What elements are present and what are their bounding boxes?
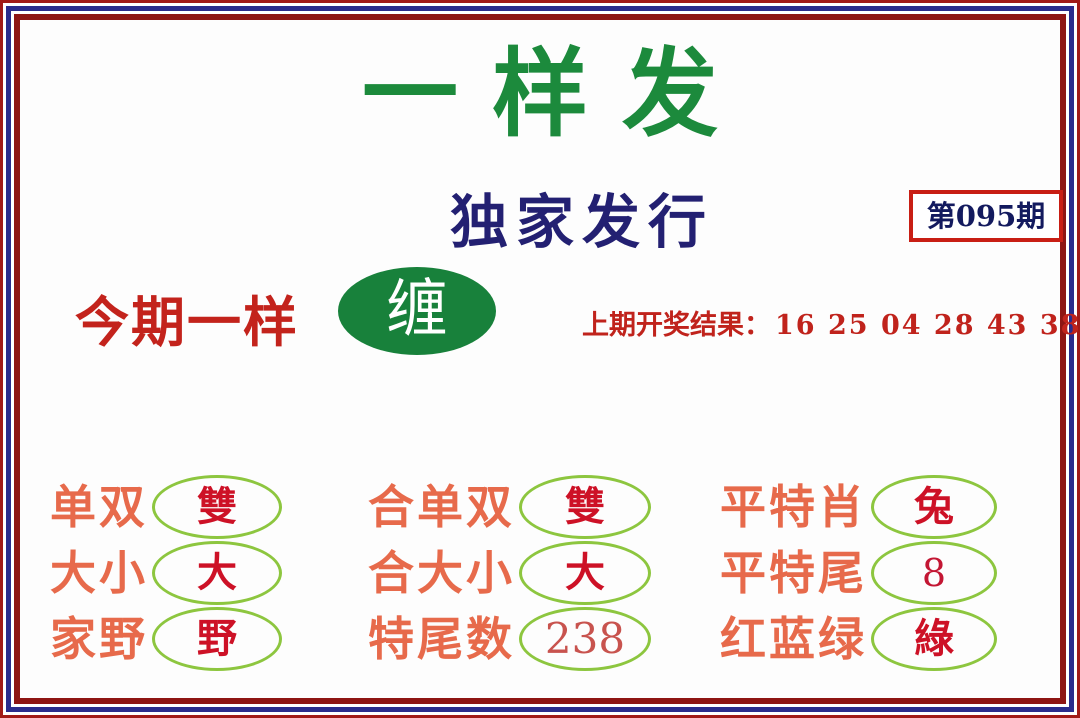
prediction-label: 平特尾	[720, 550, 867, 596]
prediction-row: 合单双 雙	[368, 475, 720, 539]
prediction-column-3: 平特肖 兔 平特尾 8 红蓝绿 綠	[720, 475, 1070, 671]
prediction-row: 家野 野	[50, 607, 368, 671]
prediction-column-1: 单双 雙 大小 大 家野 野	[50, 475, 368, 671]
prediction-label: 平特肖	[720, 484, 867, 530]
slogan-text: 今期一样	[75, 278, 299, 357]
prediction-value-oval: 雙	[152, 475, 282, 539]
prediction-value: 大	[565, 553, 605, 593]
prediction-label: 单双	[50, 484, 148, 530]
prediction-label: 合单双	[368, 484, 515, 530]
prediction-value: 野	[197, 619, 237, 659]
prediction-row: 平特肖 兔	[720, 475, 1070, 539]
prediction-value: 兔	[914, 487, 954, 527]
prediction-row: 合大小 大	[368, 541, 720, 605]
last-draw-result-numbers: 16 25 04 28 43 38+17	[775, 310, 1080, 341]
prediction-value-oval: 238	[519, 607, 651, 671]
poster-content-area: 一样发 独家发行 第095期 今期一样 缠 上期开奖结果：16 25 04 28…	[20, 20, 1060, 698]
prediction-value: 雙	[197, 487, 237, 527]
prediction-value-oval: 野	[152, 607, 282, 671]
issue-number-label: 第095期	[927, 202, 1046, 231]
prediction-value-oval: 大	[152, 541, 282, 605]
prediction-label: 合大小	[368, 550, 515, 596]
slogan-badge-character: 缠	[386, 278, 448, 340]
prediction-value: 238	[545, 618, 625, 660]
prediction-value-oval: 雙	[519, 475, 651, 539]
prediction-label: 大小	[50, 550, 148, 596]
issue-number-box: 第095期	[909, 190, 1063, 242]
poster-subtitle: 独家发行	[450, 175, 714, 259]
lottery-poster: 一样发 独家发行 第095期 今期一样 缠 上期开奖结果：16 25 04 28…	[0, 0, 1080, 718]
prediction-row: 特尾数 238	[368, 607, 720, 671]
page-title: 一样发	[20, 44, 1060, 145]
prediction-row: 红蓝绿 綠	[720, 607, 1070, 671]
prediction-grid: 单双 雙 大小 大 家野 野	[50, 475, 1070, 671]
prediction-column-2: 合单双 雙 合大小 大 特尾数 238	[368, 475, 720, 671]
prediction-value: 大	[197, 553, 237, 593]
prediction-value-oval: 大	[519, 541, 651, 605]
prediction-label: 红蓝绿	[720, 616, 867, 662]
prediction-row: 单双 雙	[50, 475, 368, 539]
prediction-row: 平特尾 8	[720, 541, 1070, 605]
prediction-label: 特尾数	[368, 616, 515, 662]
prediction-value-oval: 兔	[871, 475, 997, 539]
slogan-badge-oval: 缠	[338, 267, 496, 355]
prediction-value-oval: 綠	[871, 607, 997, 671]
last-draw-result: 上期开奖结果：16 25 04 28 43 38+17	[582, 303, 1080, 342]
prediction-value: 雙	[565, 487, 605, 527]
prediction-row: 大小 大	[50, 541, 368, 605]
last-draw-result-label: 上期开奖结果：	[582, 310, 771, 341]
prediction-label: 家野	[50, 616, 148, 662]
prediction-value: 綠	[914, 619, 954, 659]
prediction-value: 8	[922, 554, 946, 592]
prediction-value-oval: 8	[871, 541, 997, 605]
